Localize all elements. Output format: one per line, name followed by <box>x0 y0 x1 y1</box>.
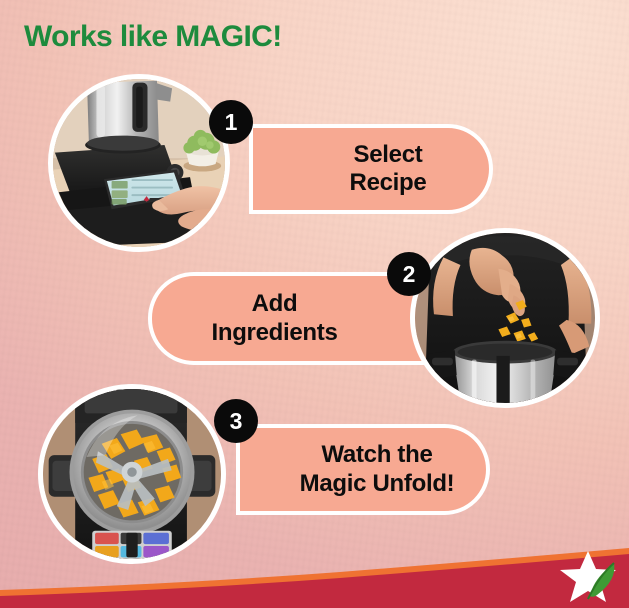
step-1-label-pill: Select Recipe <box>249 124 493 214</box>
step-3-number-badge: 3 <box>214 399 258 443</box>
step-1-label-line1: Select <box>350 141 427 169</box>
bottom-banner <box>0 546 629 608</box>
page-title: Works like MAGIC! <box>24 20 282 54</box>
star-leaf-logo <box>557 550 619 606</box>
step-3-photo <box>38 384 226 564</box>
step-1-photo <box>48 74 230 252</box>
step-2-number-badge: 2 <box>387 252 431 296</box>
step-2-label-pill: Add Ingredients <box>148 272 431 365</box>
step-2-label-line2: Ingredients <box>211 319 337 347</box>
poster-canvas: Works like MAGIC! Select Recipe <box>0 0 629 608</box>
step-1-number-badge: 1 <box>209 100 253 144</box>
step-3-label-line1: Watch the <box>300 441 455 469</box>
step-2-label-line1: Add <box>211 290 337 318</box>
step-3-label-pill: Watch the Magic Unfold! <box>236 424 490 515</box>
step-2-photo <box>410 228 600 408</box>
step-1-label-line2: Recipe <box>350 169 427 197</box>
step-3-label-line2: Magic Unfold! <box>300 470 455 498</box>
